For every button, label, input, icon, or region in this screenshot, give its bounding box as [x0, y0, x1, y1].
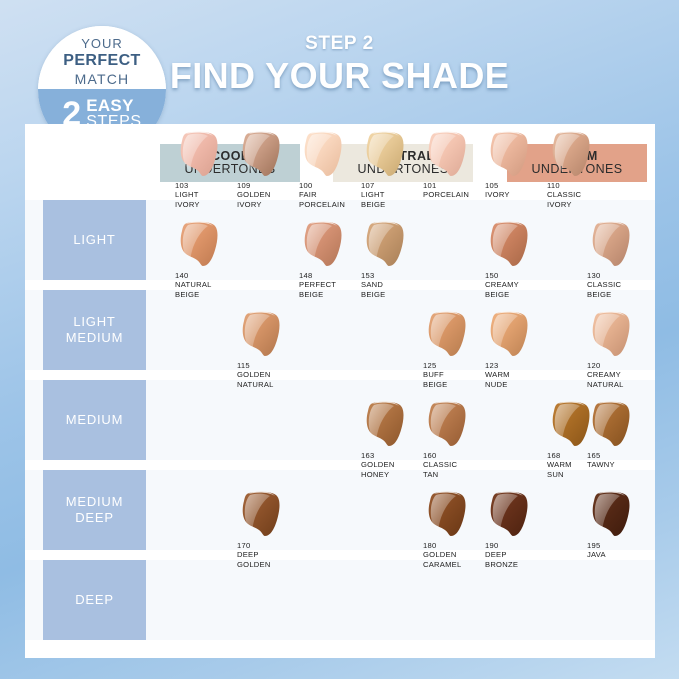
shade-swatch-148[interactable] [299, 220, 354, 270]
shade-cell-103[interactable]: 103 LIGHT IVORY [175, 130, 237, 209]
shade-depth-label-light-medium: LIGHT MEDIUM [43, 290, 146, 370]
shade-swatch-140[interactable] [175, 220, 230, 270]
foundation-smear-icon [587, 490, 642, 540]
badge-line-your: YOUR [38, 36, 166, 51]
foundation-smear-icon [547, 130, 602, 180]
shade-caption-105: 105 IVORY [485, 181, 547, 200]
shade-depth-label-medium: MEDIUM [43, 380, 146, 460]
foundation-smear-icon [361, 130, 416, 180]
shade-caption-130: 130 CLASSIC BEIGE [587, 271, 649, 299]
shade-caption-165: 165 TAWNY [587, 451, 649, 470]
shade-cell-109[interactable]: 109 GOLDEN IVORY [237, 130, 299, 209]
shade-swatch-153[interactable] [361, 220, 416, 270]
shade-caption-160: 160 CLASSIC TAN [423, 451, 485, 479]
shade-swatch-130[interactable] [587, 220, 642, 270]
shade-cell-153[interactable]: 153 SAND BEIGE [361, 220, 423, 299]
shade-caption-120: 120 CREAMY NATURAL [587, 361, 649, 389]
shade-swatch-107[interactable] [361, 130, 416, 180]
foundation-smear-icon [423, 310, 478, 360]
shade-chart-panel: COOLUNDERTONESNEUTRALUNDERTONESWARMUNDER… [25, 124, 655, 658]
shade-caption-103: 103 LIGHT IVORY [175, 181, 237, 209]
badge-line-perfect: PERFECT [38, 52, 166, 70]
foundation-smear-icon [175, 220, 230, 270]
foundation-smear-icon [361, 400, 416, 450]
shade-swatch-165[interactable] [587, 400, 642, 450]
badge-line-easy: EASY [86, 97, 141, 114]
foundation-smear-icon [485, 130, 540, 180]
foundation-smear-icon [587, 310, 642, 360]
shade-caption-163: 163 GOLDEN HONEY [361, 451, 423, 479]
shade-swatch-100[interactable] [299, 130, 354, 180]
foundation-smear-icon [299, 220, 354, 270]
foundation-smear-icon [587, 400, 642, 450]
shade-swatch-115[interactable] [237, 310, 292, 360]
shade-depth-label-deep: DEEP [43, 560, 146, 640]
foundation-smear-icon [423, 400, 478, 450]
foundation-smear-icon [175, 130, 230, 180]
shade-caption-115: 115 GOLDEN NATURAL [237, 361, 299, 389]
shade-cell-101[interactable]: 101 PORCELAIN [423, 130, 485, 200]
shade-cell-125[interactable]: 125 BUFF BEIGE [423, 310, 485, 389]
shade-cell-150[interactable]: 150 CREAMY BEIGE [485, 220, 547, 299]
shade-caption-153: 153 SAND BEIGE [361, 271, 423, 299]
shade-swatch-150[interactable] [485, 220, 540, 270]
shade-swatch-195[interactable] [587, 490, 642, 540]
shade-caption-195: 195 JAVA [587, 541, 649, 560]
shade-caption-140: 140 NATURAL BEIGE [175, 271, 237, 299]
shade-depth-label-medium-deep: MEDIUM DEEP [43, 470, 146, 550]
shade-swatch-110[interactable] [547, 130, 602, 180]
shade-cell-165[interactable]: 165 TAWNY [587, 400, 649, 470]
foundation-smear-icon [485, 310, 540, 360]
shade-swatch-190[interactable] [485, 490, 540, 540]
shade-caption-190: 190 DEEP BRONZE [485, 541, 547, 569]
shade-cell-163[interactable]: 163 GOLDEN HONEY [361, 400, 423, 479]
shade-cell-195[interactable]: 195 JAVA [587, 490, 649, 560]
shade-caption-107: 107 LIGHT BEIGE [361, 181, 423, 209]
shade-swatch-125[interactable] [423, 310, 478, 360]
shade-caption-180: 180 GOLDEN CARAMEL [423, 541, 485, 569]
shade-cell-120[interactable]: 120 CREAMY NATURAL [587, 310, 649, 389]
shade-swatch-163[interactable] [361, 400, 416, 450]
shade-cell-160[interactable]: 160 CLASSIC TAN [423, 400, 485, 479]
foundation-smear-icon [485, 220, 540, 270]
foundation-smear-icon [423, 490, 478, 540]
shade-swatch-120[interactable] [587, 310, 642, 360]
shade-cell-100[interactable]: 100 FAIR PORCELAIN [299, 130, 361, 209]
shade-caption-125: 125 BUFF BEIGE [423, 361, 485, 389]
shade-cell-170[interactable]: 170 DEEP GOLDEN [237, 490, 299, 569]
badge-top-half: YOUR PERFECT MATCH [38, 26, 166, 89]
shade-swatch-123[interactable] [485, 310, 540, 360]
shade-cell-105[interactable]: 105 IVORY [485, 130, 547, 200]
shade-cell-190[interactable]: 190 DEEP BRONZE [485, 490, 547, 569]
shade-cell-110[interactable]: 110 CLASSIC IVORY [547, 130, 609, 209]
shade-swatch-170[interactable] [237, 490, 292, 540]
badge-line-match: MATCH [38, 71, 166, 87]
foundation-smear-icon [299, 130, 354, 180]
shade-cell-123[interactable]: 123 WARM NUDE [485, 310, 547, 389]
shade-cell-115[interactable]: 115 GOLDEN NATURAL [237, 310, 299, 389]
shade-caption-101: 101 PORCELAIN [423, 181, 485, 200]
foundation-smear-icon [361, 220, 416, 270]
shade-depth-label-light: LIGHT [43, 200, 146, 280]
shade-swatch-101[interactable] [423, 130, 478, 180]
shade-caption-148: 148 PERFECT BEIGE [299, 271, 361, 299]
shade-caption-109: 109 GOLDEN IVORY [237, 181, 299, 209]
shade-caption-170: 170 DEEP GOLDEN [237, 541, 299, 569]
shade-cell-148[interactable]: 148 PERFECT BEIGE [299, 220, 361, 299]
foundation-smear-icon [237, 130, 292, 180]
shade-cell-140[interactable]: 140 NATURAL BEIGE [175, 220, 237, 299]
foundation-smear-icon [423, 130, 478, 180]
foundation-smear-icon [587, 220, 642, 270]
shade-cell-107[interactable]: 107 LIGHT BEIGE [361, 130, 423, 209]
shade-caption-100: 100 FAIR PORCELAIN [299, 181, 361, 209]
shade-swatch-105[interactable] [485, 130, 540, 180]
foundation-smear-icon [485, 490, 540, 540]
shade-caption-150: 150 CREAMY BEIGE [485, 271, 547, 299]
shade-swatch-160[interactable] [423, 400, 478, 450]
shade-swatch-180[interactable] [423, 490, 478, 540]
shade-cell-180[interactable]: 180 GOLDEN CARAMEL [423, 490, 485, 569]
foundation-smear-icon [237, 490, 292, 540]
shade-cell-130[interactable]: 130 CLASSIC BEIGE [587, 220, 649, 299]
shade-swatch-103[interactable] [175, 130, 230, 180]
shade-caption-123: 123 WARM NUDE [485, 361, 547, 389]
shade-caption-110: 110 CLASSIC IVORY [547, 181, 609, 209]
foundation-smear-icon [237, 310, 292, 360]
shade-swatch-109[interactable] [237, 130, 292, 180]
